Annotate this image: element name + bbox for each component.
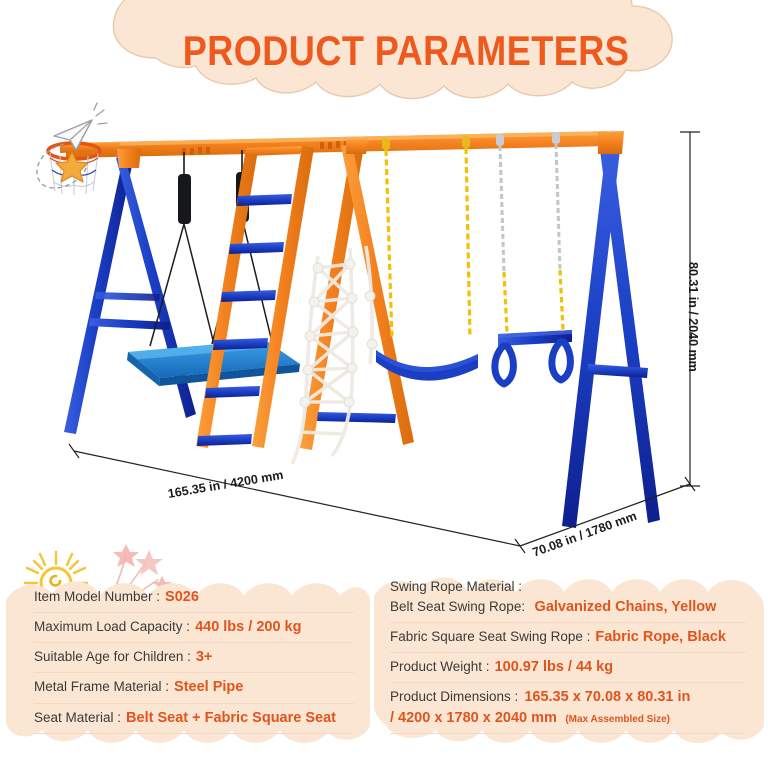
spec-row-dimensions: Product Dimensions : 165.35 x 70.08 x 80… <box>390 688 746 734</box>
paper-plane-doodle <box>24 98 120 190</box>
title-cloud-banner: PRODUCT PARAMETERS <box>96 0 716 106</box>
spec-value-mm: / 4200 x 1780 x 2040 mm <box>390 710 557 726</box>
spec-label: Fabric Square Seat Swing Rope : <box>390 628 590 646</box>
spec-panel-left: Item Model Number : S026 Maximum Load Ca… <box>6 566 370 758</box>
spec-value: 440 lbs / 200 kg <box>195 618 301 637</box>
spec-label: Product Weight : <box>390 658 490 676</box>
spec-row-fabric-rope: Fabric Square Seat Swing Rope : Fabric R… <box>390 628 746 653</box>
dim-line-width <box>74 451 520 546</box>
infographic-page: PRODUCT PARAMETERS <box>0 0 768 768</box>
spec-row: Maximum Load Capacity : 440 lbs / 200 kg <box>34 618 354 643</box>
chain-yellow-right <box>466 148 470 338</box>
spec-value: S026 <box>165 588 199 607</box>
ladder-frame <box>196 146 314 448</box>
climbing-rope-net <box>292 246 372 464</box>
spec-label: Belt Seat Swing Rope: <box>390 599 525 614</box>
right-a-frame <box>562 131 660 528</box>
spec-label: Item Model Number : <box>34 588 160 606</box>
spec-row: Seat Material : Belt Seat + Fabric Squar… <box>34 709 354 734</box>
trapeze-rings <box>495 132 572 384</box>
spec-list-left: Item Model Number : S026 Maximum Load Ca… <box>6 566 370 758</box>
spec-value-in: 165.35 x 70.08 x 80.31 in <box>524 688 690 707</box>
dim-tick-width-left <box>69 444 79 458</box>
star-doodle <box>56 152 88 182</box>
spec-list-right: Swing Rope Material : Belt Seat Swing Ro… <box>374 566 764 758</box>
spec-value: Belt Seat + Fabric Square Seat <box>126 709 336 728</box>
spec-value: Steel Pipe <box>174 678 243 697</box>
spec-value: Fabric Rope, Black <box>595 628 726 647</box>
spec-heading: Swing Rope Material : <box>390 578 746 596</box>
spec-label: Seat Material : <box>34 709 121 727</box>
dim-line-depth <box>520 484 690 546</box>
spec-label: Maximum Load Capacity : <box>34 618 190 636</box>
spec-row-weight: Product Weight : 100.97 lbs / 44 kg <box>390 658 746 683</box>
spec-value: Galvanized Chains, Yellow <box>535 599 717 615</box>
dimension-label-height: 80.31 in / 2040 mm <box>686 262 700 372</box>
spec-label: Metal Frame Material : <box>34 678 169 696</box>
spec-row: Metal Frame Material : Steel Pipe <box>34 678 354 703</box>
spec-row: Item Model Number : S026 <box>34 588 354 613</box>
chain-yellow-left <box>386 150 392 340</box>
spec-panel-right: Swing Rope Material : Belt Seat Swing Ro… <box>374 566 764 758</box>
page-title: PRODUCT PARAMETERS <box>139 0 672 106</box>
spec-note: (Max Assembled Size) <box>565 714 670 725</box>
spec-label: Suitable Age for Children : <box>34 648 191 666</box>
spec-value: 3+ <box>196 648 213 667</box>
spec-value: 100.97 lbs / 44 kg <box>495 658 614 677</box>
spec-row: Suitable Age for Children : 3+ <box>34 648 354 673</box>
left-a-frame <box>64 148 196 434</box>
spec-row-swing-rope: Swing Rope Material : Belt Seat Swing Ro… <box>390 578 746 623</box>
spec-label: Product Dimensions : <box>390 688 518 706</box>
spec-panels: Item Model Number : S026 Maximum Load Ca… <box>0 566 768 768</box>
